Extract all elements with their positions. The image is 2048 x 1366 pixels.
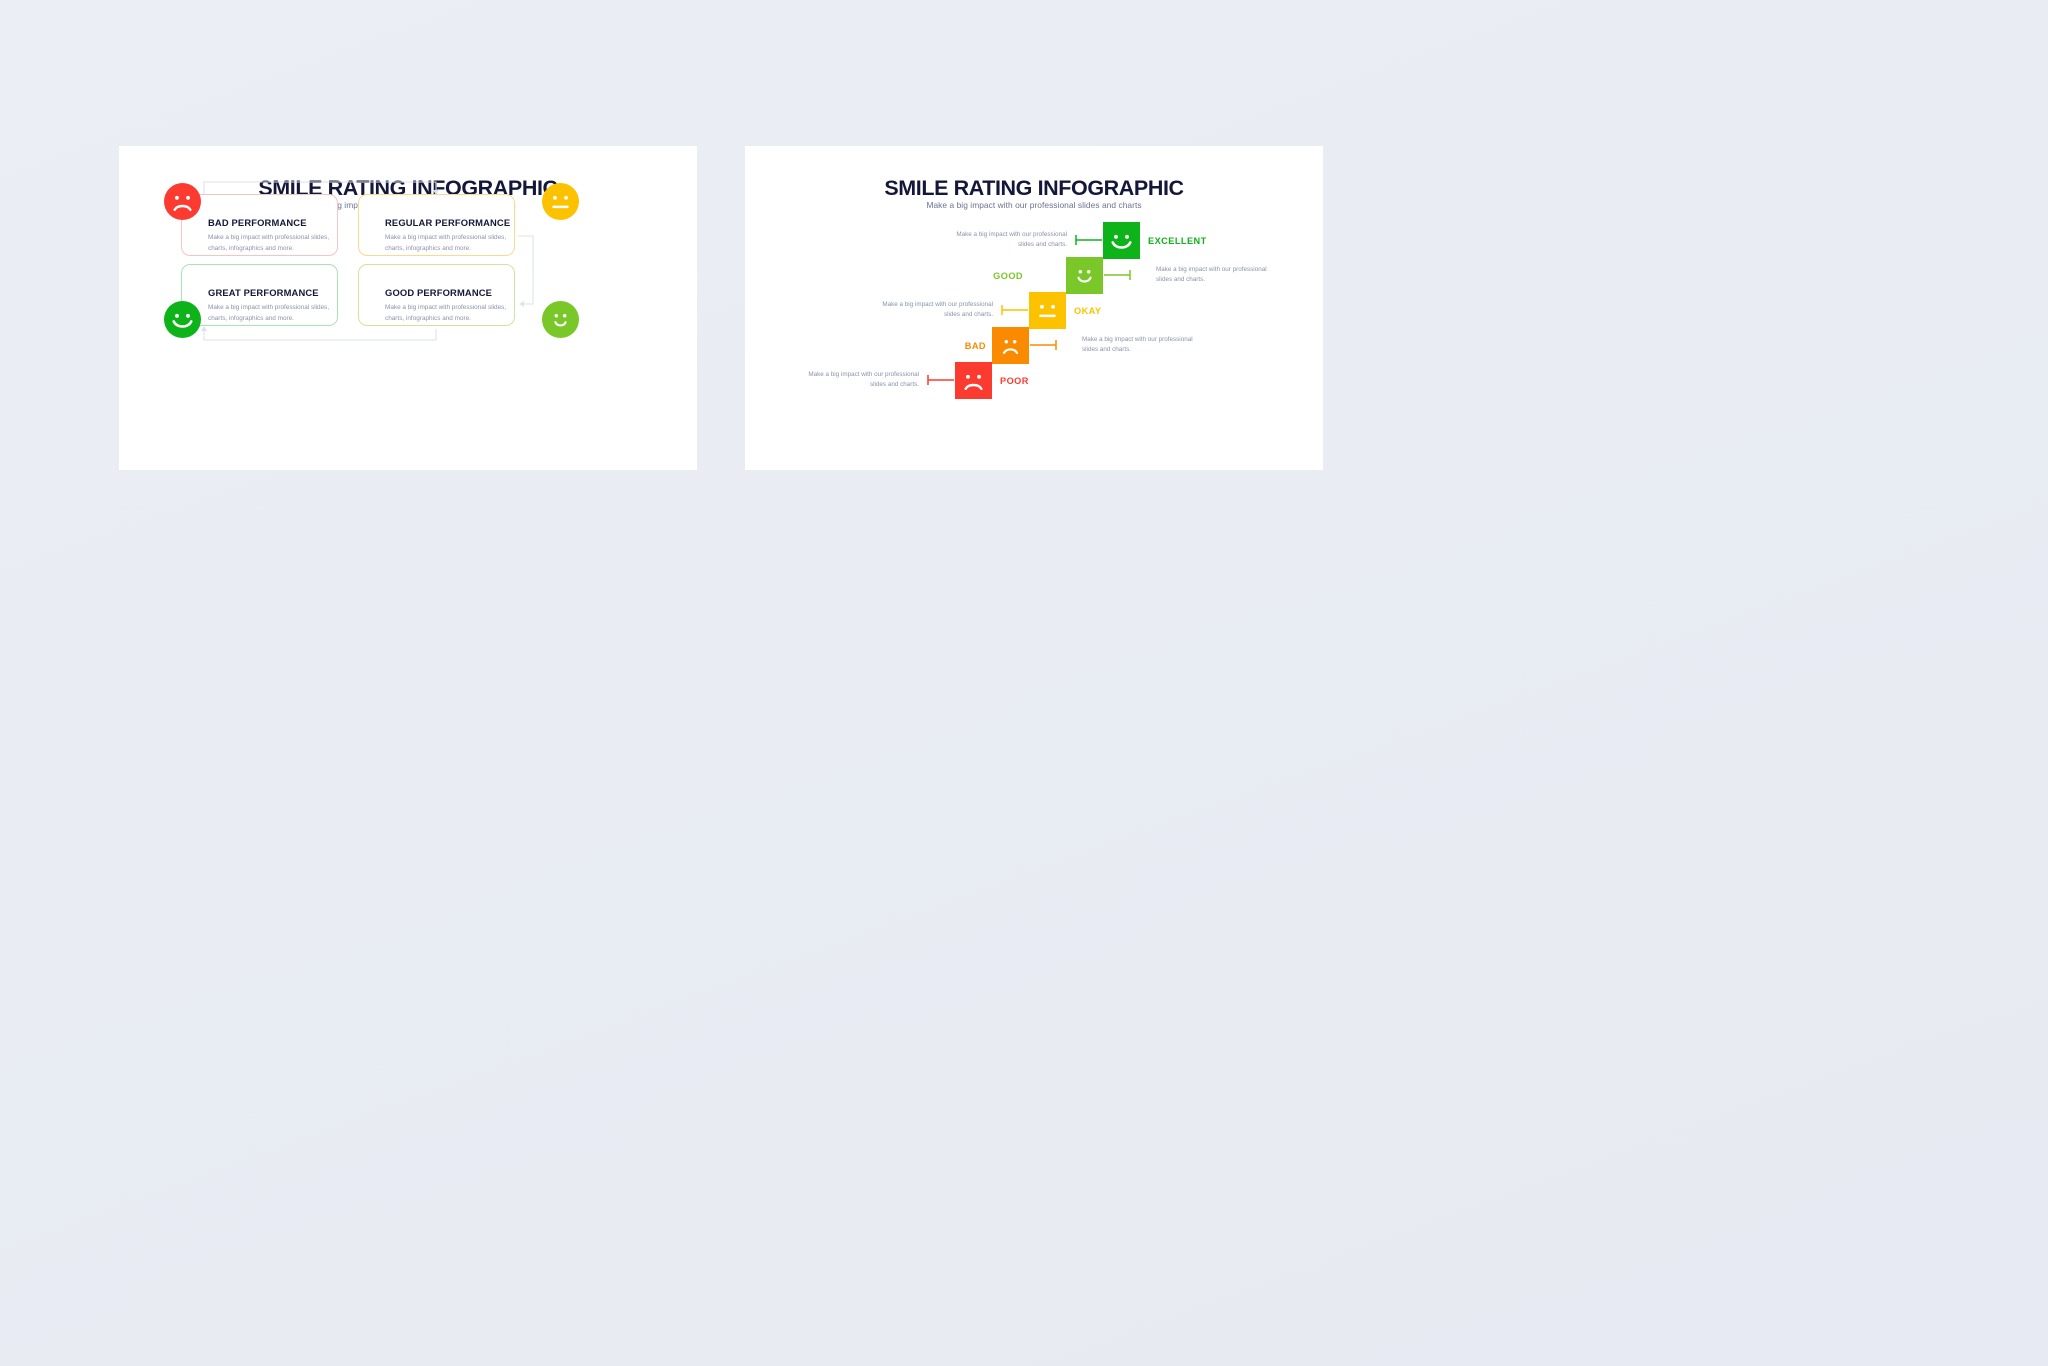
card-title: GREAT PERFORMANCE (208, 287, 319, 298)
smile-face-icon (1066, 257, 1103, 294)
page-title: SMILE RATING INFOGRAPHIC (745, 176, 1323, 201)
step-label-excellent: EXCELLENT (1148, 236, 1207, 246)
step-tile-bad[interactable] (992, 327, 1029, 364)
big-smile-face-icon (164, 301, 201, 338)
card-regular-performance[interactable]: REGULAR PERFORMANCE Make a big impact wi… (358, 194, 515, 256)
neutral-face-icon (1029, 292, 1066, 329)
page-canvas: SMILE RATING INFOGRAPHIC Make a big impa… (0, 0, 2048, 1366)
card-good-performance[interactable]: GOOD PERFORMANCE Make a big impact with … (358, 264, 515, 326)
frown-face-icon (164, 183, 201, 220)
card-body: Make a big impact with professional slid… (385, 233, 511, 254)
step-label-okay: OKAY (1074, 306, 1102, 316)
neutral-face-icon (542, 183, 579, 220)
card-title: GOOD PERFORMANCE (385, 287, 492, 298)
card-bad-performance[interactable]: BAD PERFORMANCE Make a big impact with p… (181, 194, 338, 256)
frown-face-icon (955, 362, 992, 399)
step-desc-poor: Make a big impact with our professional … (797, 370, 919, 390)
slide-smile-rating-cards[interactable]: SMILE RATING INFOGRAPHIC Make a big impa… (119, 146, 697, 470)
card-body: Make a big impact with professional slid… (385, 303, 511, 324)
step-desc-good: Make a big impact with our professional … (1156, 265, 1278, 285)
step-desc-excellent: Make a big impact with our professional … (945, 230, 1067, 250)
slide-smile-rating-staircase[interactable]: SMILE RATING INFOGRAPHIC Make a big impa… (745, 146, 1323, 470)
card-body: Make a big impact with professional slid… (208, 303, 334, 324)
step-tile-poor[interactable] (955, 362, 992, 399)
step-tile-okay[interactable] (1029, 292, 1066, 329)
step-label-bad: BAD (965, 341, 986, 351)
step-label-poor: POOR (1000, 376, 1029, 386)
step-label-good: GOOD (993, 271, 1023, 281)
card-title: BAD PERFORMANCE (208, 217, 307, 228)
card-body: Make a big impact with professional slid… (208, 233, 334, 254)
page-subtitle: Make a big impact with our professional … (745, 200, 1323, 210)
step-tile-good[interactable] (1066, 257, 1103, 294)
frown-face-icon (992, 327, 1029, 364)
card-great-performance[interactable]: GREAT PERFORMANCE Make a big impact with… (181, 264, 338, 326)
card-title: REGULAR PERFORMANCE (385, 217, 510, 228)
step-desc-bad: Make a big impact with our professional … (1082, 335, 1204, 355)
step-desc-okay: Make a big impact with our professional … (871, 300, 993, 320)
big-smile-face-icon (1103, 222, 1140, 259)
smile-face-icon (542, 301, 579, 338)
step-tile-excellent[interactable] (1103, 222, 1140, 259)
